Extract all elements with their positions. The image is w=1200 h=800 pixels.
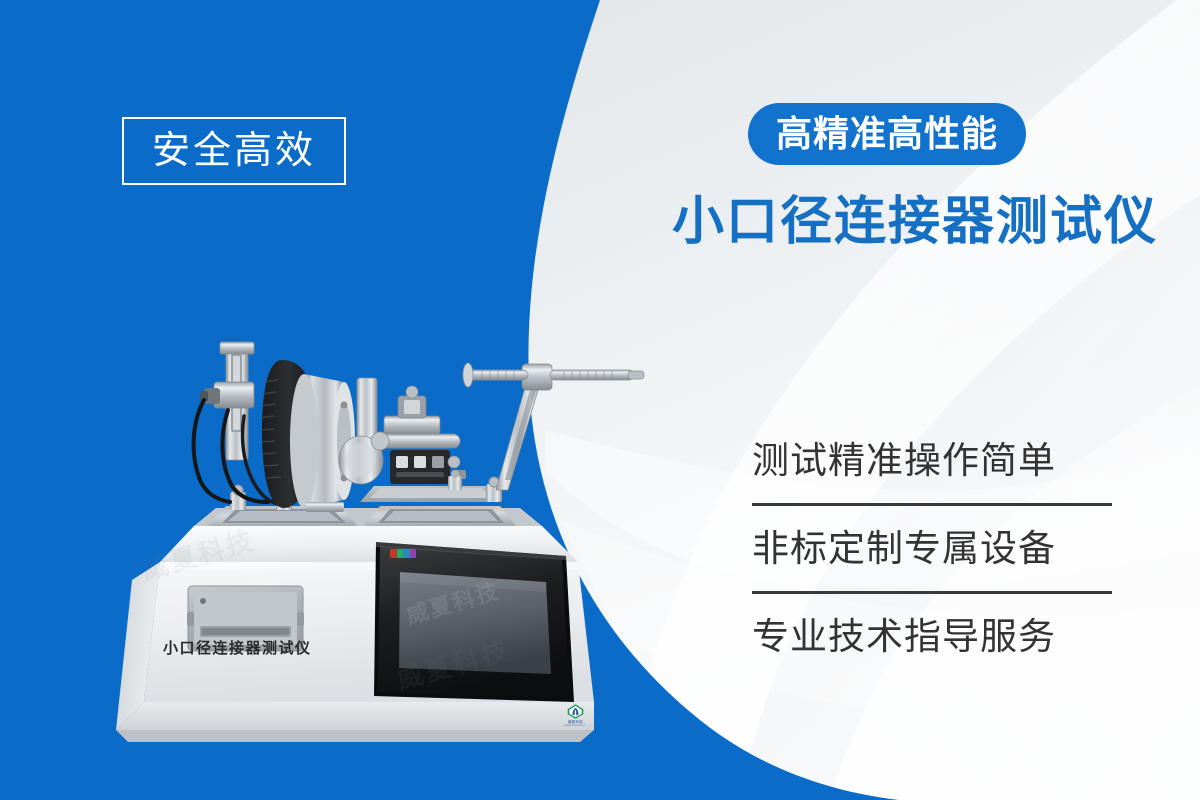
feature-label: 专业技术指导服务 <box>752 618 1056 655</box>
feature-item: 专业技术指导服务 <box>752 594 1120 679</box>
machine-front-label: 小口径连接器测试仪 <box>163 637 312 658</box>
tagline-badge-safe-efficient: 安全高效 <box>122 117 346 185</box>
tagline-badge-label: 安全高效 <box>152 132 316 170</box>
shield-leaf-icon <box>566 703 585 720</box>
tagline-pill-high-precision: 高精准高性能 <box>748 103 1026 165</box>
product-banner: 小口径连接器测试仪 威夏科技 WEIXIA TECHNOLOGY 威夏科技 威夏… <box>0 0 1200 800</box>
feature-list: 测试精准操作简单 非标定制专属设备 专业技术指导服务 <box>752 418 1120 679</box>
feature-label: 非标定制专属设备 <box>752 530 1056 567</box>
tagline-pill-label: 高精准高性能 <box>776 116 998 152</box>
manufacturer-logo: 威夏科技 WEIXIA TECHNOLOGY <box>556 700 594 730</box>
hmi-brand-logo-icon <box>390 549 416 558</box>
feature-label: 测试精准操作简单 <box>752 442 1056 479</box>
product-photo-testing-machine <box>108 330 668 760</box>
feature-item: 测试精准操作简单 <box>752 418 1120 503</box>
feature-item: 非标定制专属设备 <box>752 506 1120 591</box>
page-title: 小口径连接器测试仪 <box>672 196 1158 248</box>
manufacturer-name-en: WEIXIA TECHNOLOGY <box>564 725 586 727</box>
